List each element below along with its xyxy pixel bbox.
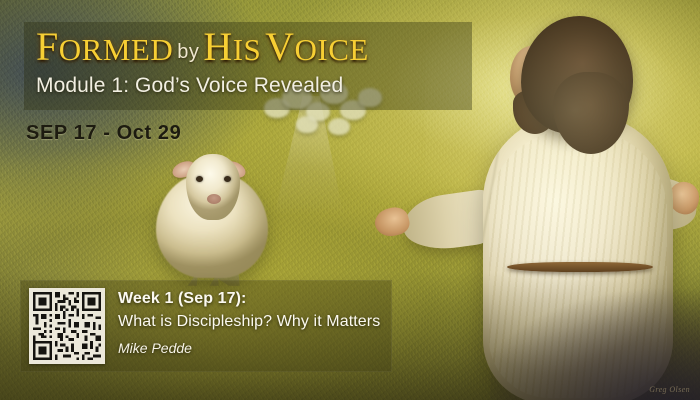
artist-signature: Greg Olsen bbox=[649, 385, 690, 394]
title-connector-by: by bbox=[173, 41, 203, 63]
qr-code[interactable] bbox=[29, 288, 105, 364]
title-word-formed: FORMED bbox=[36, 24, 173, 69]
session-topic: What is Discipleship? Why it Matters bbox=[118, 310, 390, 334]
session-week-label: Week 1 (Sep 17): bbox=[118, 288, 390, 310]
date-range: SEP 17 - Oct 29 bbox=[26, 122, 181, 145]
session-presenter: Mike Pedde bbox=[118, 336, 390, 360]
title-word-his: HIS bbox=[203, 24, 261, 69]
background-dark-corner bbox=[490, 280, 700, 400]
title-word-voice: VOICE bbox=[265, 24, 369, 69]
page-title: FORMEDbyHIS VOICE bbox=[36, 24, 466, 75]
poster-canvas: FORMEDbyHIS VOICE Module 1: God’s Voice … bbox=[0, 0, 700, 400]
module-subtitle: Module 1: God’s Voice Revealed bbox=[36, 74, 343, 98]
session-card-text: Week 1 (Sep 17): What is Discipleship? W… bbox=[118, 288, 390, 360]
